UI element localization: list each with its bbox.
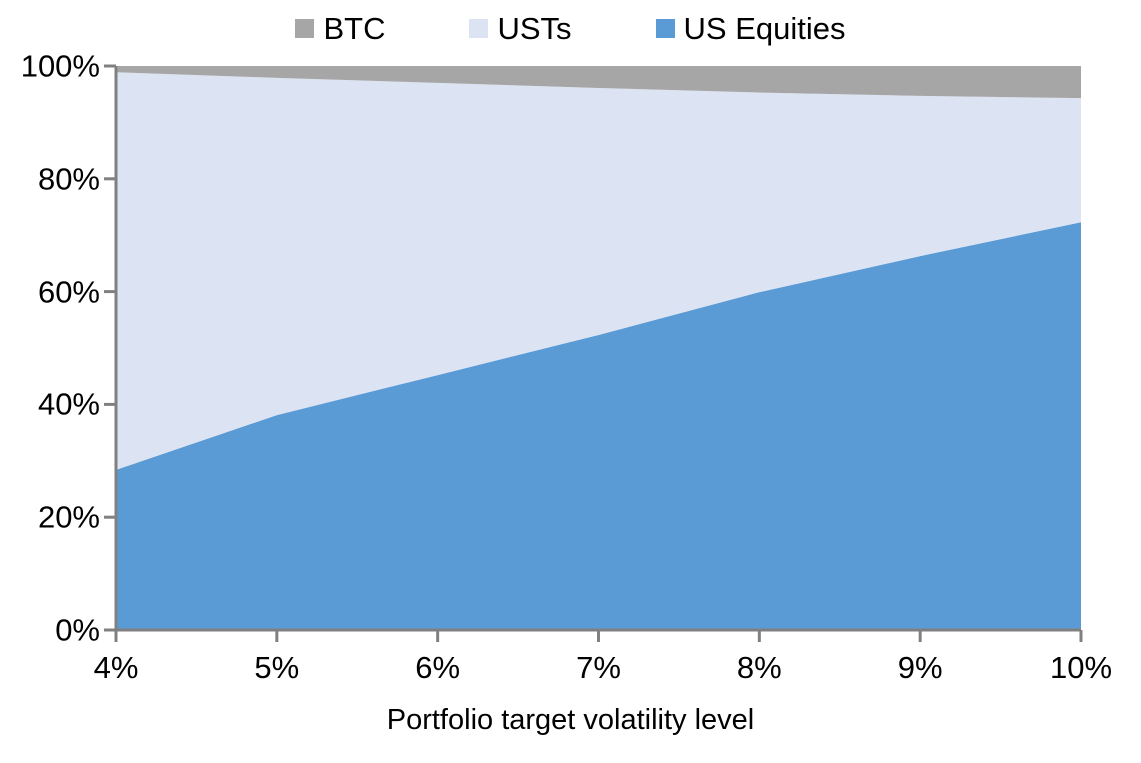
y-axis-tick-label: 100% bbox=[21, 51, 100, 82]
y-axis-tick-label: 20% bbox=[38, 502, 100, 533]
x-axis-tick-label: 5% bbox=[254, 652, 299, 683]
plot-svg bbox=[0, 0, 1141, 763]
plot-area bbox=[0, 0, 1141, 763]
x-axis-title: Portfolio target volatility level bbox=[0, 706, 1141, 735]
x-axis-tick-label: 10% bbox=[1050, 652, 1112, 683]
y-axis-tick-label: 60% bbox=[38, 276, 100, 307]
x-axis-tick-label: 9% bbox=[898, 652, 943, 683]
x-axis-tick-label: 4% bbox=[94, 652, 139, 683]
y-axis-tick-label: 0% bbox=[55, 615, 100, 646]
x-axis-tick-label: 7% bbox=[576, 652, 621, 683]
x-axis-tick-label: 8% bbox=[737, 652, 782, 683]
y-axis-tick-label: 40% bbox=[38, 389, 100, 420]
y-axis-tick-labels: 0%20%40%60%80%100% bbox=[0, 0, 100, 763]
y-axis-tick-label: 80% bbox=[38, 163, 100, 194]
stacked-area-chart: BTC USTs US Equities 0%20%40%60%80%100% … bbox=[0, 0, 1141, 763]
x-axis-tick-label: 6% bbox=[415, 652, 460, 683]
